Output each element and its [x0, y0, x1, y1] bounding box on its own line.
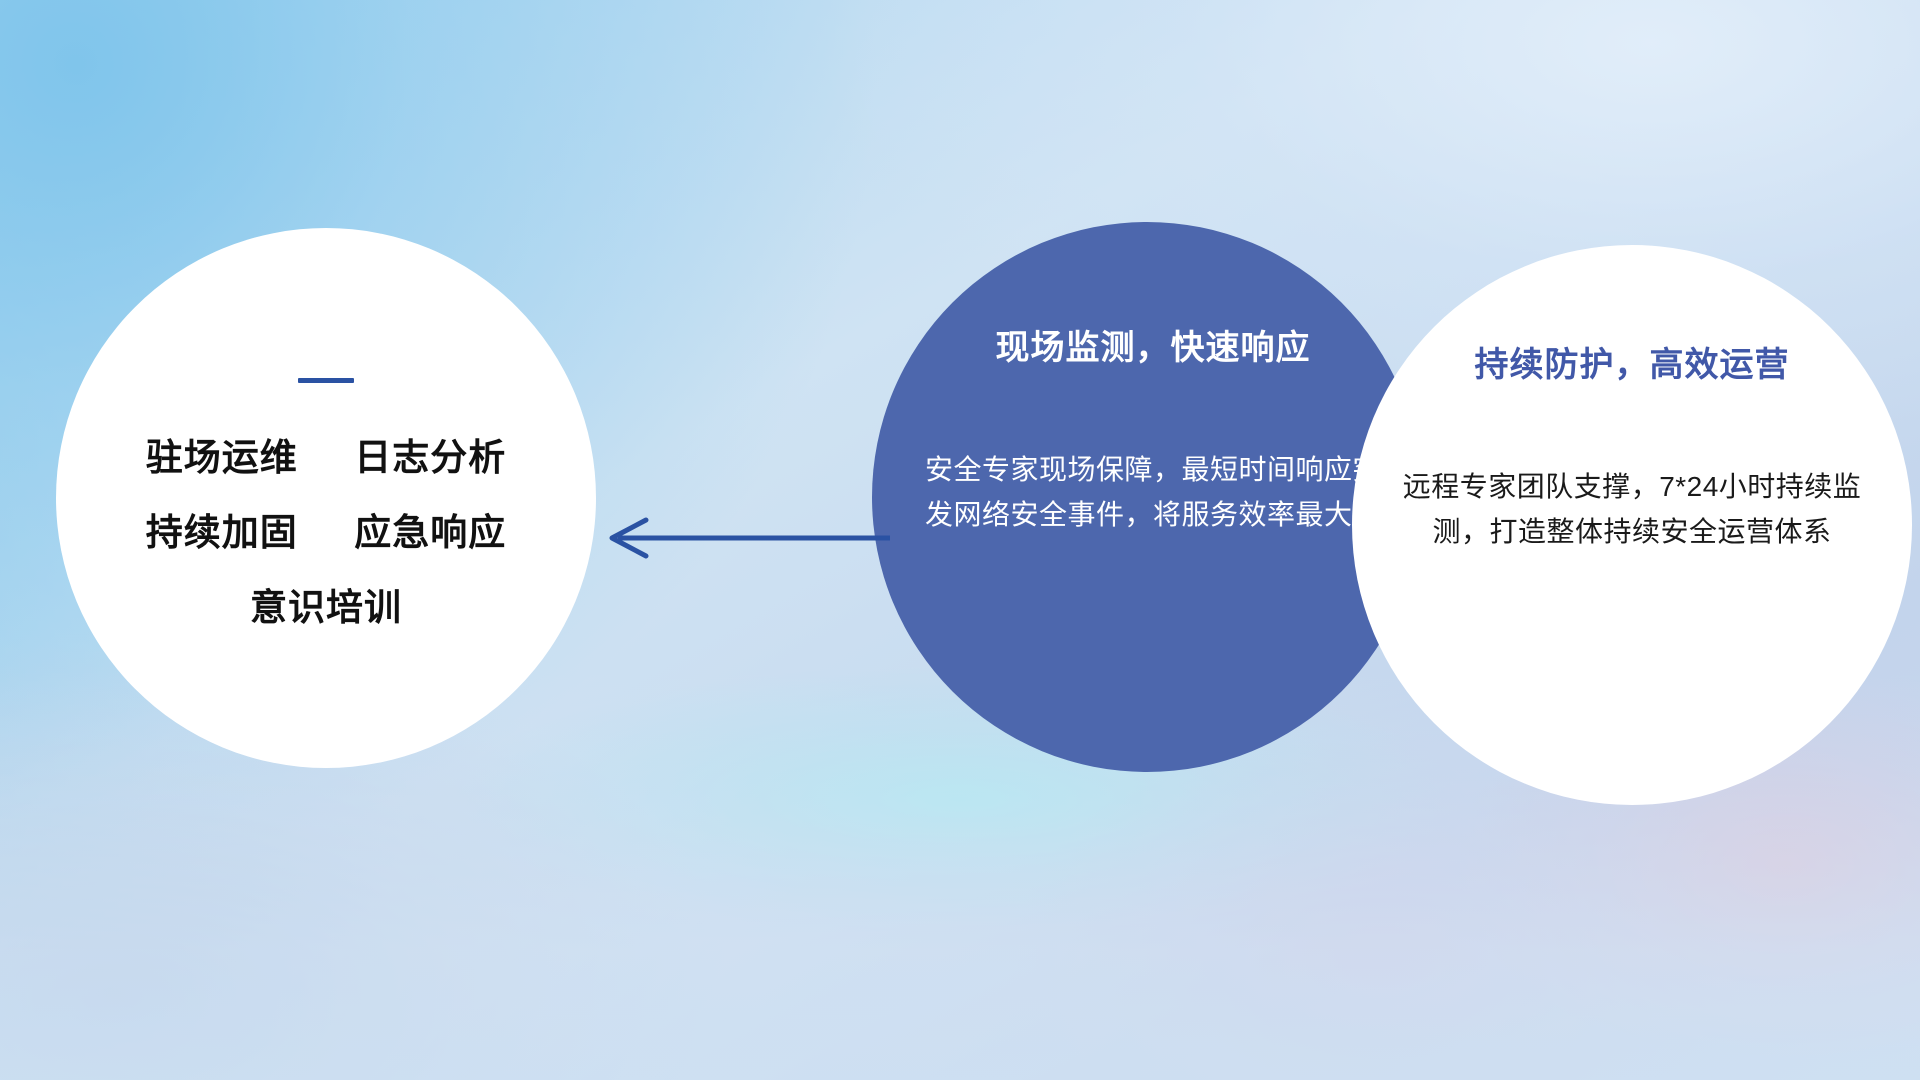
capability-tag: 日志分析: [354, 437, 506, 478]
continuous-protection-content: 持续防护，高效运营 远程专家团队支撑，7*24小时持续监测，打造整体持续安全运营…: [1392, 337, 1872, 555]
capability-tag: 意识培训: [250, 587, 402, 628]
service-capabilities-content: 驻场运维 日志分析 持续加固 应急响应 意识培训: [56, 378, 596, 626]
capability-row: 驻场运维 日志分析: [56, 439, 596, 476]
capability-row: 持续加固 应急响应: [56, 514, 596, 551]
onsite-monitoring-circle[interactable]: 现场监测，快速响应 安全专家现场保障，最短时间响应突发网络安全事件，将服务效率最…: [872, 222, 1422, 772]
onsite-monitoring-content: 现场监测，快速响应 安全专家现场保障，最短时间响应突发网络安全事件，将服务效率最…: [918, 320, 1388, 538]
continuous-protection-body: 远程专家团队支撑，7*24小时持续监测，打造整体持续安全运营体系: [1392, 464, 1872, 555]
continuous-protection-title: 持续防护，高效运营: [1392, 337, 1872, 386]
continuous-protection-circle[interactable]: 持续防护，高效运营 远程专家团队支撑，7*24小时持续监测，打造整体持续安全运营…: [1352, 245, 1912, 805]
slide-canvas: 驻场运维 日志分析 持续加固 应急响应 意识培训 现场监测，快速响应 安全专家现…: [0, 0, 1920, 1080]
leftward-flow-arrow-icon: [600, 516, 890, 560]
onsite-monitoring-body: 安全专家现场保障，最短时间响应突发网络安全事件，将服务效率最大化: [918, 447, 1388, 538]
service-capabilities-circle[interactable]: 驻场运维 日志分析 持续加固 应急响应 意识培训: [56, 228, 596, 768]
onsite-monitoring-title: 现场监测，快速响应: [918, 320, 1388, 369]
capability-tag: 持续加固: [146, 512, 298, 553]
divider-line: [298, 378, 354, 383]
capability-tag: 驻场运维: [146, 437, 298, 478]
capability-row: 意识培训: [56, 589, 596, 626]
capability-tag: 应急响应: [354, 512, 506, 553]
